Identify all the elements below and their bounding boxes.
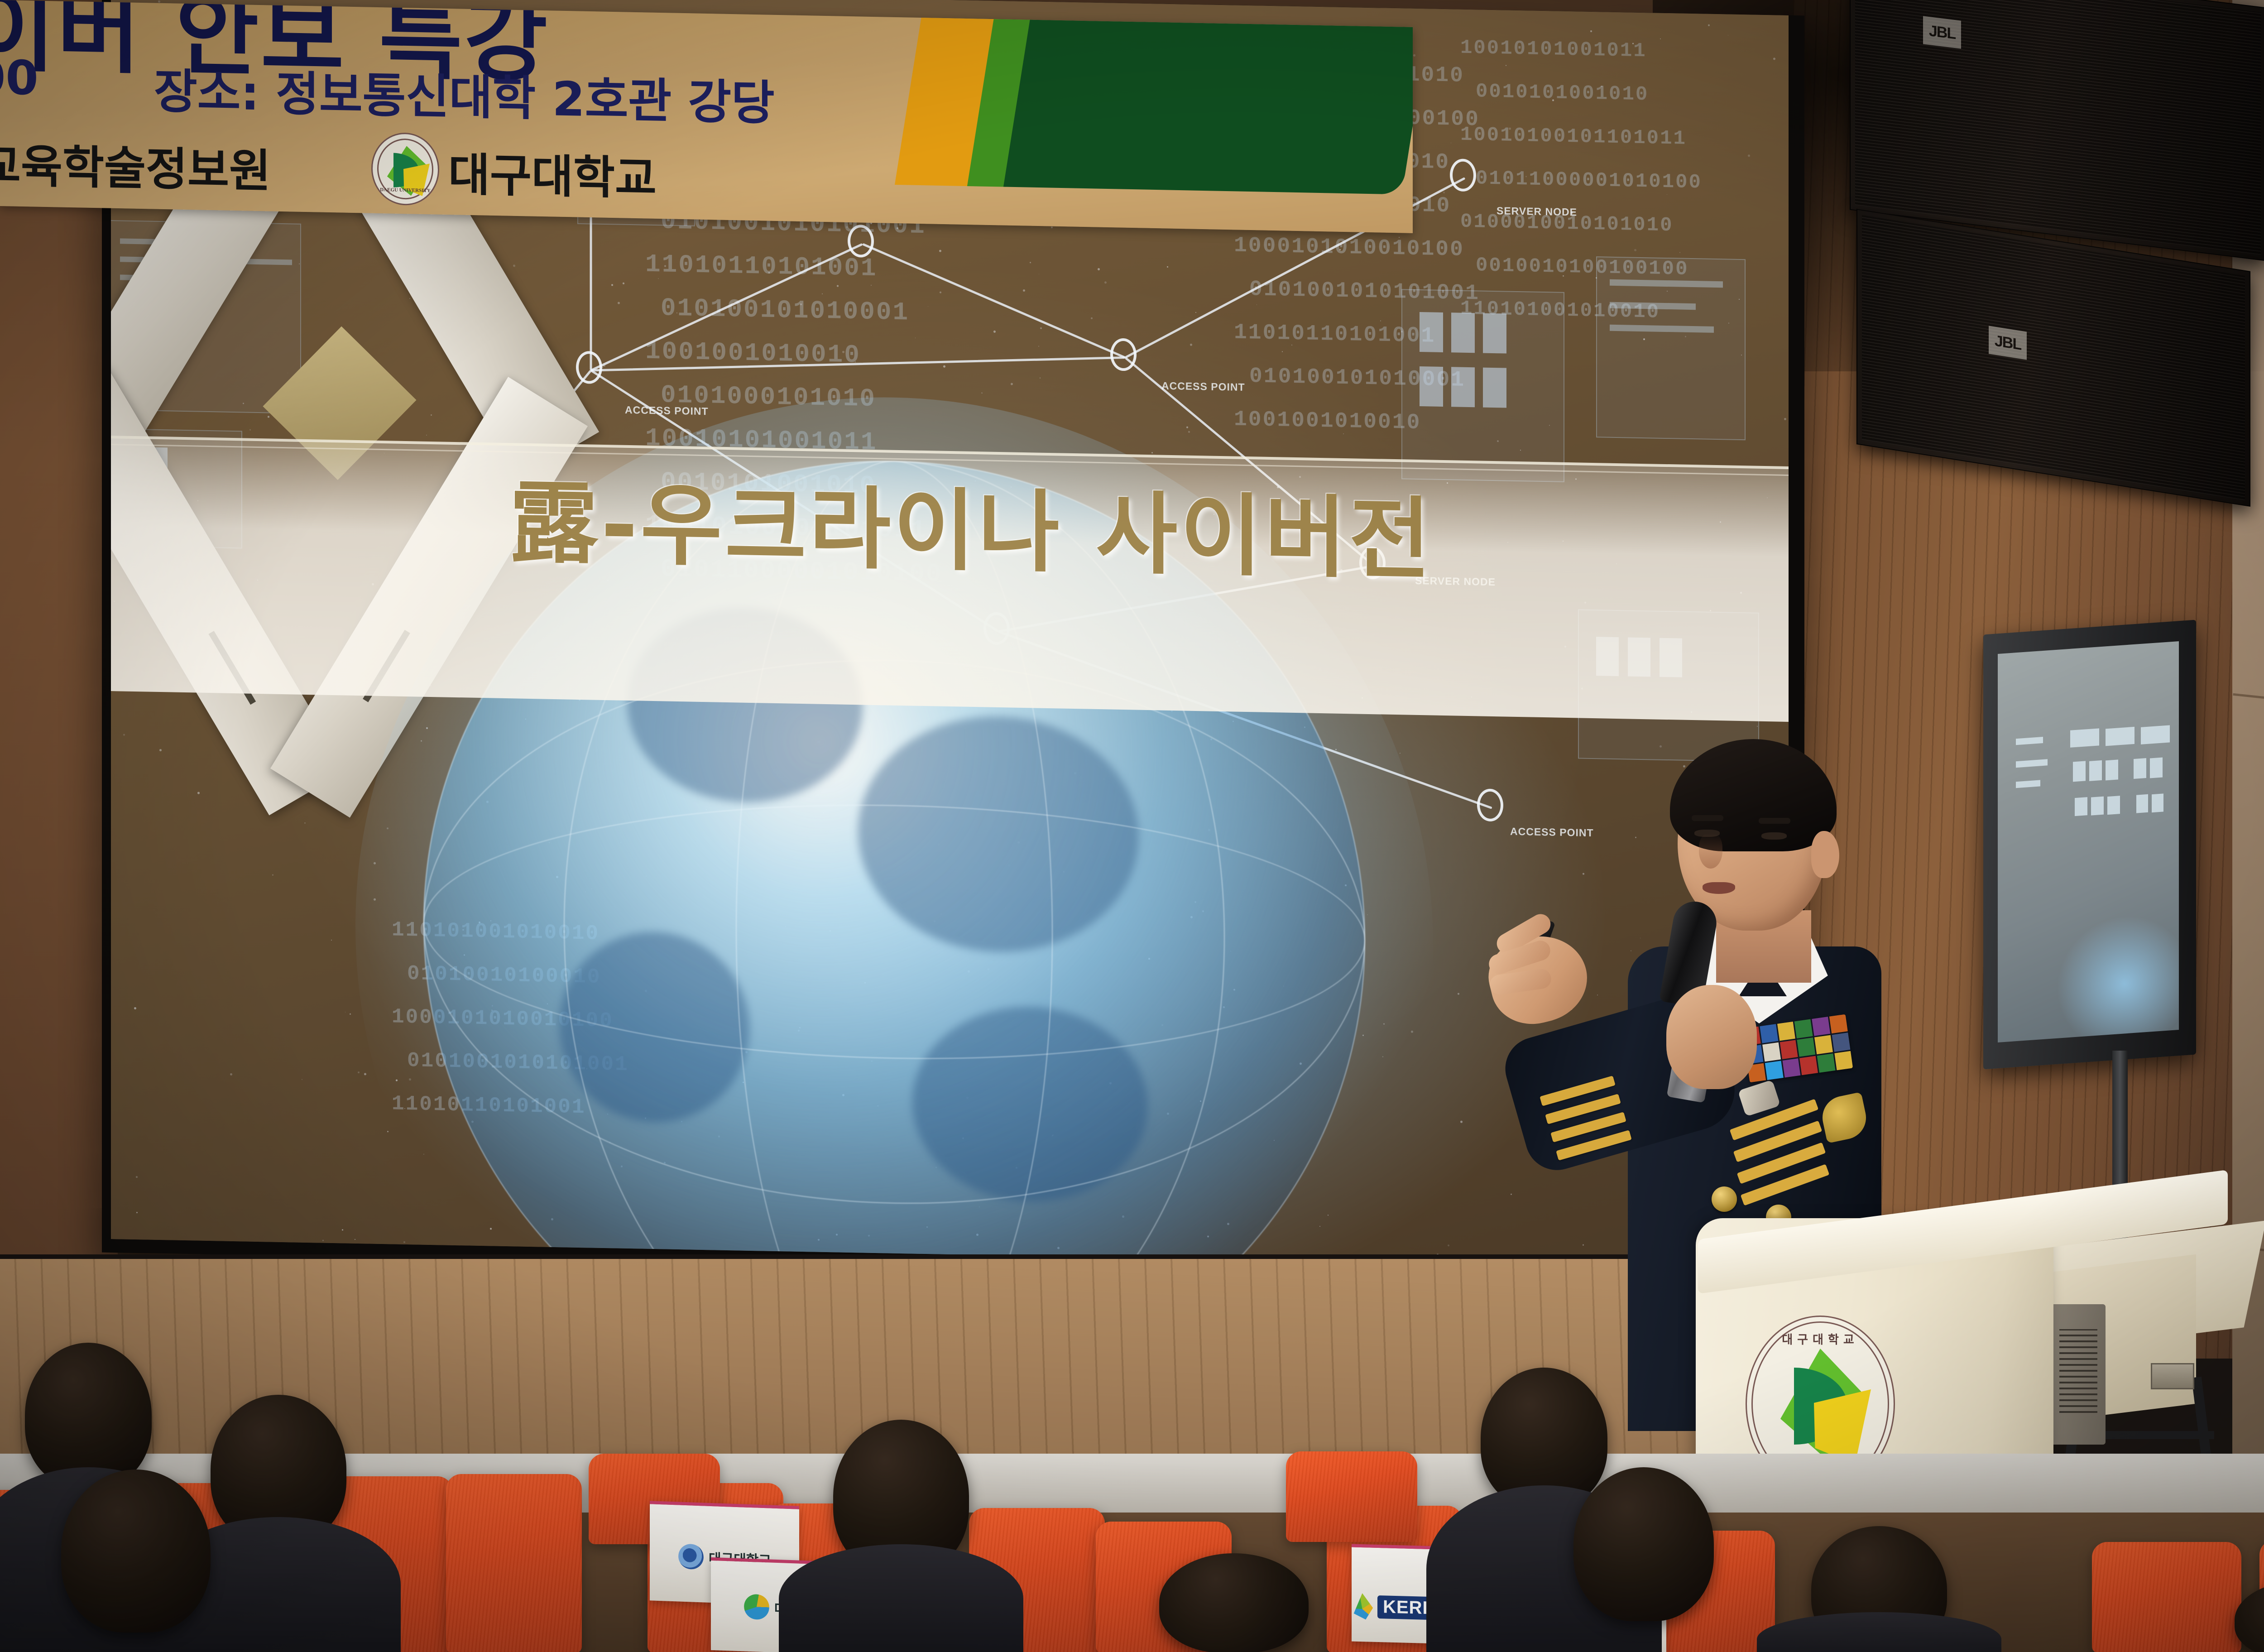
slide-title: 露-우크라이나 사이버전 [509,479,1433,584]
confidence-monitor-screen[interactable] [1998,641,2179,1042]
seal-english-text: DAEGU UNIVERSITY [373,187,438,194]
binary-text: 10010100101101011 [1460,124,1687,150]
presenter-mouth [1703,882,1735,894]
network-node-label: ACCESS POINT [1161,380,1245,394]
audience-shoulders [779,1544,1023,1652]
binary-text: 0101001010101001 [1249,277,1480,306]
binary-text: 010100101010001 [661,293,909,327]
jbl-logo: JBL [1923,16,1961,48]
binary-text: 11010110101001 [1234,321,1435,349]
presenter-nose [1699,833,1722,869]
binary-text: 10010101001011 [1460,37,1647,63]
binary-text: 1001001010010 [1234,408,1421,436]
network-node [1110,338,1137,371]
jbl-logo-lower: JBL [1989,326,2027,360]
banner-swoosh-green-dark [1003,0,1413,194]
binary-text: 0010010100100100 [1476,254,1688,281]
banner-place: 장소: 정보통신대학 2호관 강당 [154,53,775,133]
keris-logo-icon [1352,1593,1373,1620]
binary-text: 110101001010010 [1460,298,1660,324]
podium-seal-korean: 대구대학교 [1747,1330,1894,1347]
presenter-mic-hand [1666,985,1757,1089]
podium-speaker-grille [2051,1304,2106,1445]
binary-text: 010100101010001 [1249,364,1465,393]
seat[interactable] [446,1474,582,1652]
network-node [576,351,602,384]
lecture-hall-photo: JBL JBL [0,0,2264,1652]
audience-head [1573,1467,1714,1621]
binary-text: 11010110101001 [645,250,877,283]
podium-outlet[interactable] [2151,1363,2194,1389]
daegu-university-logo-icon [743,1593,770,1620]
audience-head [25,1343,152,1488]
binary-text: 0010101001010 [1476,80,1649,106]
banner-org-keris: 한국교육학술정보원 [0,127,271,200]
seat[interactable] [1286,1451,1417,1542]
network-node-label: ACCESS POINT [625,404,709,418]
banner-org-university: 대구대학교 [448,138,657,207]
audience-head [61,1470,211,1633]
daegu-university-seal-banner: DAEGU UNIVERSITY [371,132,439,206]
banner-time: 00 [0,49,38,106]
presenter-ear [1811,831,1839,878]
network-node [1450,158,1476,192]
daegu-university-logo-icon [678,1543,704,1570]
network-node-label: ACCESS POINT [1510,826,1594,839]
network-node [848,225,874,258]
audience-head [1159,1553,1309,1652]
seat[interactable] [2092,1542,2241,1652]
network-node-label: SERVER NODE [1497,205,1577,218]
binary-text: 01011000001010100 [1476,167,1702,194]
network-node [1477,788,1503,821]
event-banner: 사이버 안보 특강 00 장소: 정보통신대학 2호관 강당 한국교육학술정보원… [0,0,1413,233]
